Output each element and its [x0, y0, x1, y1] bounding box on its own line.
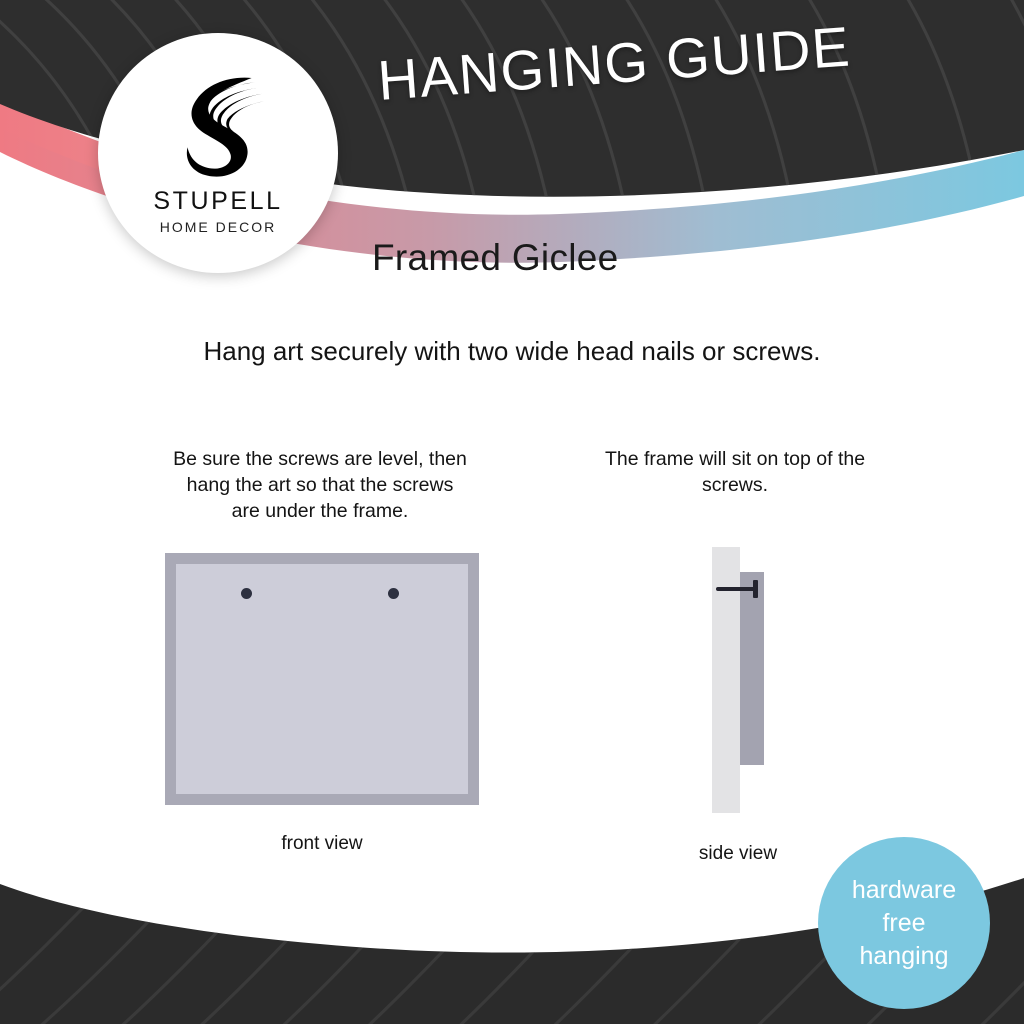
front-view-caption: Be sure the screws are level, then hang … [170, 446, 470, 524]
badge-line-2: free [882, 907, 925, 940]
front-view-mat [176, 564, 468, 794]
front-view-frame-diagram [165, 553, 479, 805]
hanging-guide-page: STUPELL HOME DECOR HANGING GUIDE Framed … [0, 0, 1024, 1024]
badge-line-3: hanging [860, 940, 949, 973]
nail-head-icon [753, 580, 758, 598]
screw-dot-left [241, 588, 252, 599]
product-type-subtitle: Framed Giclee [372, 237, 619, 279]
side-view-frame [740, 572, 764, 765]
brand-logo-badge: STUPELL HOME DECOR [98, 33, 338, 273]
intro-instruction: Hang art securely with two wide head nai… [0, 336, 1024, 367]
side-view-caption: The frame will sit on top of the screws. [600, 446, 870, 498]
brand-tagline: HOME DECOR [160, 219, 276, 235]
hardware-free-hanging-badge: hardware free hanging [818, 837, 990, 1009]
screw-dot-right [388, 588, 399, 599]
brand-name: STUPELL [153, 187, 282, 216]
badge-line-1: hardware [852, 874, 956, 907]
front-view-label: front view [165, 833, 479, 855]
stupell-s-swoosh-icon [155, 57, 281, 183]
side-view-label: side view [630, 843, 846, 865]
nail-shaft-icon [716, 587, 758, 591]
